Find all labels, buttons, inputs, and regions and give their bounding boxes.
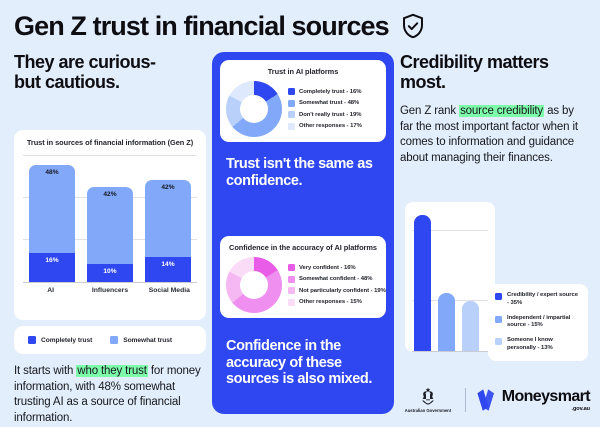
header: Gen Z trust in financial sources <box>14 6 590 46</box>
bar-someone-i-know-personally <box>462 301 479 351</box>
bar-segment-completely: 10% <box>87 264 133 283</box>
bar-group-social-media: 42% 14% <box>145 155 191 283</box>
legend-item-somewhat-trust: Somewhat trust <box>110 336 172 344</box>
confidence-ai-legend: Very confident - 16% Somewhat confident … <box>288 264 386 306</box>
legend-item-completely-trust: Completely trust - 16% <box>288 88 380 95</box>
trust-sources-legend: Completely trust Somewhat trust <box>14 326 206 354</box>
left-note-pre: It starts with <box>14 365 76 377</box>
legend-item-very-confident: Very confident - 16% <box>288 264 386 271</box>
legend-item-credibility-expert-source: Credibility / expert source - 35% <box>495 292 581 308</box>
legend-item-completely-trust: Completely trust <box>28 336 92 344</box>
right-column: Credibility matters most. Gen Z rank sou… <box>400 52 588 418</box>
bar-value-label: 16% <box>29 257 75 264</box>
bar-credibility-expert-source <box>414 215 431 351</box>
bar-segment-somewhat: 48% <box>29 165 75 253</box>
legend-label: Not particularly confident - 19% <box>299 288 386 294</box>
legend-label: Other responses - 17% <box>299 123 362 129</box>
bar-value-label: 14% <box>145 261 191 268</box>
left-note-highlight: who they trust <box>76 365 148 377</box>
legend-swatch-icon <box>110 336 118 344</box>
legend-item-someone-i-know-personally: Someone I know personally - 13% <box>495 337 581 353</box>
legend-swatch-icon <box>288 299 295 306</box>
middle-blue-panel: Trust in AI platforms Completely trust -… <box>212 52 394 414</box>
legend-label: Other responses - 15% <box>299 299 362 305</box>
legend-swatch-icon <box>288 276 295 283</box>
confidence-ai-chart-title: Confidence in the accuracy of AI platfor… <box>226 243 380 252</box>
legend-item-dont-really-trust: Don't really trust - 19% <box>288 111 380 118</box>
legend-swatch-icon <box>288 88 295 95</box>
x-tick-label: Influencers <box>87 287 133 294</box>
left-note: It starts with who they trust for money … <box>14 364 206 427</box>
middle-quote-confidence: Confidence in the accuracy of these sour… <box>226 338 382 388</box>
left-headline: They are curious- but cautious. <box>14 52 206 92</box>
x-axis-line <box>23 282 197 283</box>
middle-quote-trust: Trust isn't the same as confidence. <box>226 156 382 189</box>
moneysmart-mark-icon <box>475 387 497 413</box>
legend-swatch-icon <box>495 338 502 345</box>
trust-ai-donut <box>226 81 282 137</box>
legend-item-independent-impartial-source: Independent / impartial source - 15% <box>495 315 581 331</box>
bar-segment-somewhat: 42% <box>145 180 191 257</box>
bar-value-label: 42% <box>87 191 133 198</box>
trust-ai-legend: Completely trust - 16% Somewhat trust - … <box>288 88 380 130</box>
legend-item-not-particularly-confident: Not particularly confident - 19% <box>288 287 386 294</box>
coat-of-arms-icon <box>416 387 440 407</box>
bar-segment-completely: 16% <box>29 253 75 283</box>
page-title: Gen Z trust in financial sources <box>14 13 389 40</box>
gov-caption: Australian Government <box>405 408 451 413</box>
legend-label: Very confident - 16% <box>299 265 356 271</box>
brand-tld: .gov.au <box>572 406 590 412</box>
x-tick-label: Social Media <box>146 287 192 294</box>
shield-check-icon <box>399 12 427 40</box>
moneysmart-logo: Moneysmart .gov.au <box>475 387 590 413</box>
legend-swatch-icon <box>288 100 295 107</box>
legend-label: Somewhat trust - 48% <box>299 100 359 106</box>
brand-name: Moneysmart <box>502 389 590 405</box>
australian-government-logo: Australian Government <box>400 387 456 413</box>
legend-item-other-responses: Other responses - 17% <box>288 123 380 130</box>
bar-value-label: 42% <box>145 184 191 191</box>
trust-sources-chart-card: Trust in sources of financial informatio… <box>14 130 206 320</box>
legend-swatch-icon <box>288 264 295 271</box>
legend-swatch-icon <box>288 287 295 294</box>
legend-label: Somewhat trust <box>123 337 172 344</box>
legend-item-other-responses: Other responses - 15% <box>288 299 386 306</box>
legend-swatch-icon <box>495 293 502 300</box>
legend-label: Someone I know personally - 13% <box>507 337 581 353</box>
left-column: They are curious- but cautious. Trust in… <box>14 52 206 418</box>
moneysmart-wordmark: Moneysmart .gov.au <box>502 389 590 412</box>
legend-label: Completely trust <box>41 337 92 344</box>
legend-swatch-icon <box>288 123 295 130</box>
bar-independent-impartial-source <box>438 293 455 351</box>
credibility-legend: Credibility / expert source - 35% Indepe… <box>488 284 588 361</box>
footer-divider <box>465 388 466 412</box>
middle-column: Trust in AI platforms Completely trust -… <box>212 52 394 418</box>
legend-swatch-icon <box>288 111 295 118</box>
trust-sources-plot: 48% 16% 42% 10% 42% <box>21 155 199 283</box>
bar-group-influencers: 42% 10% <box>87 155 133 283</box>
x-axis-tick-labels: AI Influencers Social Media <box>21 287 199 294</box>
right-copy-highlight: source credibility <box>459 105 544 117</box>
bar-group-ai: 48% 16% <box>29 155 75 283</box>
legend-label: Completely trust - 16% <box>299 89 361 95</box>
bar-value-label: 48% <box>29 169 75 176</box>
credibility-chart-card <box>405 202 495 352</box>
bar-segment-somewhat: 42% <box>87 187 133 264</box>
legend-item-somewhat-trust: Somewhat trust - 48% <box>288 100 380 107</box>
legend-swatch-icon <box>28 336 36 344</box>
bar-value-label: 10% <box>87 268 133 275</box>
legend-label: Credibility / expert source - 35% <box>507 292 581 308</box>
trust-sources-chart-title: Trust in sources of financial informatio… <box>21 138 199 147</box>
trust-ai-platforms-card: Trust in AI platforms Completely trust -… <box>220 60 386 142</box>
legend-label: Don't really trust - 19% <box>299 112 361 118</box>
legend-label: Somewhat confident - 48% <box>299 276 372 282</box>
right-copy: Gen Z rank source credibility as by far … <box>400 104 586 167</box>
right-headline: Credibility matters most. <box>400 52 586 92</box>
confidence-ai-donut <box>226 257 282 313</box>
trust-ai-chart-title: Trust in AI platforms <box>226 67 380 76</box>
legend-swatch-icon <box>495 316 502 323</box>
right-copy-pre: Gen Z rank <box>400 105 459 117</box>
x-tick-label: AI <box>28 287 74 294</box>
credibility-plot <box>410 208 490 352</box>
legend-item-somewhat-confident: Somewhat confident - 48% <box>288 276 386 283</box>
bar-segment-completely: 14% <box>145 257 191 283</box>
legend-label: Independent / impartial source - 15% <box>507 315 581 331</box>
x-axis-line <box>412 351 488 352</box>
confidence-ai-platforms-card: Confidence in the accuracy of AI platfor… <box>220 236 386 318</box>
footer: Australian Government Moneysmart .gov.au <box>400 380 590 420</box>
